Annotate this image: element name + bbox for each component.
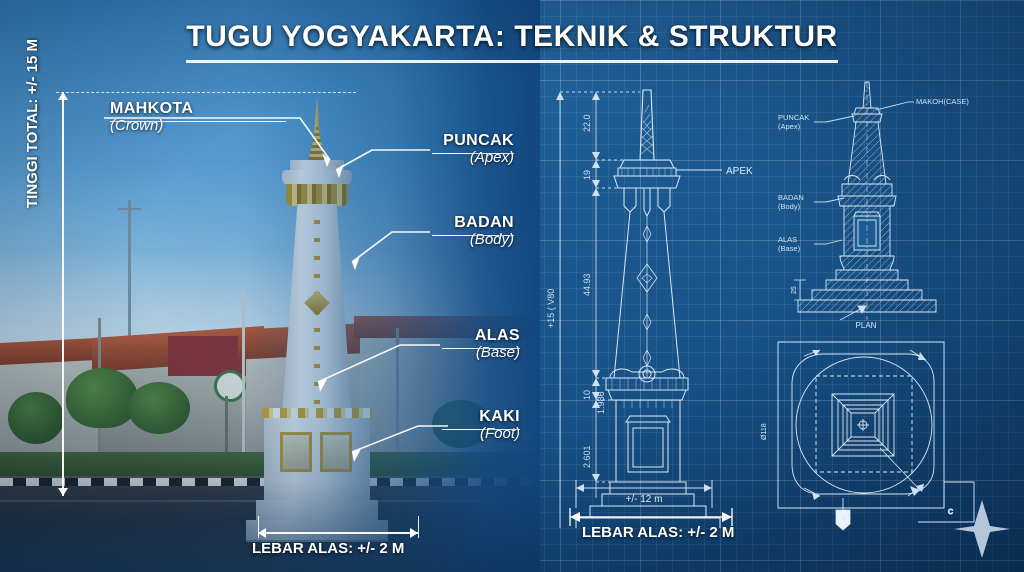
poster-title-bar: TUGU YOGYAKARTA: TEKNIK & STRUKTUR	[0, 20, 1024, 63]
annotation-mahkota-translation: (Crown)	[110, 118, 193, 135]
svg-text:A: A	[841, 516, 846, 523]
page-title: TUGU YOGYAKARTA: TEKNIK & STRUKTUR	[186, 20, 837, 63]
detail-callout-alas-translation: (Base)	[778, 244, 801, 253]
elevation-base-block	[616, 400, 680, 482]
annotation-badan-term: BADAN	[300, 214, 514, 232]
annotation-alas-translation: (Base)	[310, 345, 520, 362]
elevation-crown-plate	[620, 160, 674, 168]
elevation-drawing: 22.0 19 44.93 10 2.601 1.986 +15 ( V80 A…	[540, 78, 770, 528]
detail-callout-puncak-term: PUNCAK	[778, 113, 809, 122]
elevation-dim-2601: 2.601	[582, 445, 592, 468]
dimension-base-label: LEBAR ALAS: +/- 2 M	[252, 540, 404, 557]
dimension-total-label: TINGGI TOTAL: +/- 15 M	[24, 39, 41, 208]
annotation-kaki: KAKI (Foot)	[310, 408, 520, 443]
dimension-total-top-tick	[56, 92, 356, 93]
annotation-alas-term: ALAS	[310, 327, 520, 345]
elevation-cornice	[614, 176, 680, 188]
annotation-puncak-term: PUNCAK	[300, 132, 514, 150]
dimension-total-line	[62, 92, 64, 496]
detail-callout-badan-term: BADAN	[778, 193, 804, 202]
blueprint-poster: MAHKOTA (Crown) PUNCAK (Apex) BADAN (Bod…	[0, 0, 1024, 572]
compass-star-icon	[952, 498, 1012, 560]
annotation-mahkota-term: MAHKOTA	[110, 100, 193, 118]
elevation-overall-label: +15 ( V80	[546, 289, 556, 328]
section-marker-top-icon	[836, 300, 870, 326]
detail-callout-badan-translation: (Body)	[778, 202, 801, 211]
elevation-apex-callout: APEK	[726, 166, 753, 177]
annotation-mahkota: MAHKOTA (Crown)	[110, 100, 193, 135]
elevation-dim-10: 10	[582, 390, 592, 400]
detail-callout-alas-term: ALAS	[778, 235, 797, 244]
elevation-dim-4493: 44.93	[582, 273, 592, 296]
annotation-kaki-translation: (Foot)	[310, 426, 520, 443]
annotation-alas: ALAS (Base)	[310, 327, 520, 362]
elevation-dim-22: 22.0	[582, 114, 592, 132]
section-arrow-icon: A	[836, 498, 850, 530]
annotation-puncak-translation: (Apex)	[300, 150, 514, 167]
dimension-base-line	[258, 532, 418, 534]
elevation-dim-19: 19	[582, 170, 592, 180]
detail-callout-puncak-translation: (Apex)	[778, 122, 801, 131]
detail-callout-makoh: MAKOH(CASE)	[916, 97, 969, 106]
detail-step-dimension: 25	[791, 286, 798, 294]
elevation-spire	[640, 90, 654, 160]
annotation-badan-translation: (Body)	[300, 232, 514, 249]
annotation-puncak: PUNCAK (Apex)	[300, 132, 514, 167]
annotation-badan: BADAN (Body)	[300, 214, 514, 249]
dimension-base-ext-right	[418, 516, 419, 538]
elevation-body-right	[664, 212, 680, 378]
annotation-kaki-term: KAKI	[310, 408, 520, 426]
photo-bottom-fade	[0, 482, 540, 572]
elevation-width-label: +/- 12 m	[626, 494, 663, 505]
elevation-body-left	[614, 212, 630, 378]
elevation-caption: LEBAR ALAS: +/- 2 M	[582, 524, 734, 541]
monument-photograph	[0, 0, 540, 572]
elevation-dim-1986: 1.986	[596, 391, 606, 414]
plan-diameter-label: Ø118	[761, 423, 768, 440]
detail-elevation-drawing: MAKOH(CASE) PUNCAK (Apex) BADAN (Body) A…	[770, 80, 1010, 320]
